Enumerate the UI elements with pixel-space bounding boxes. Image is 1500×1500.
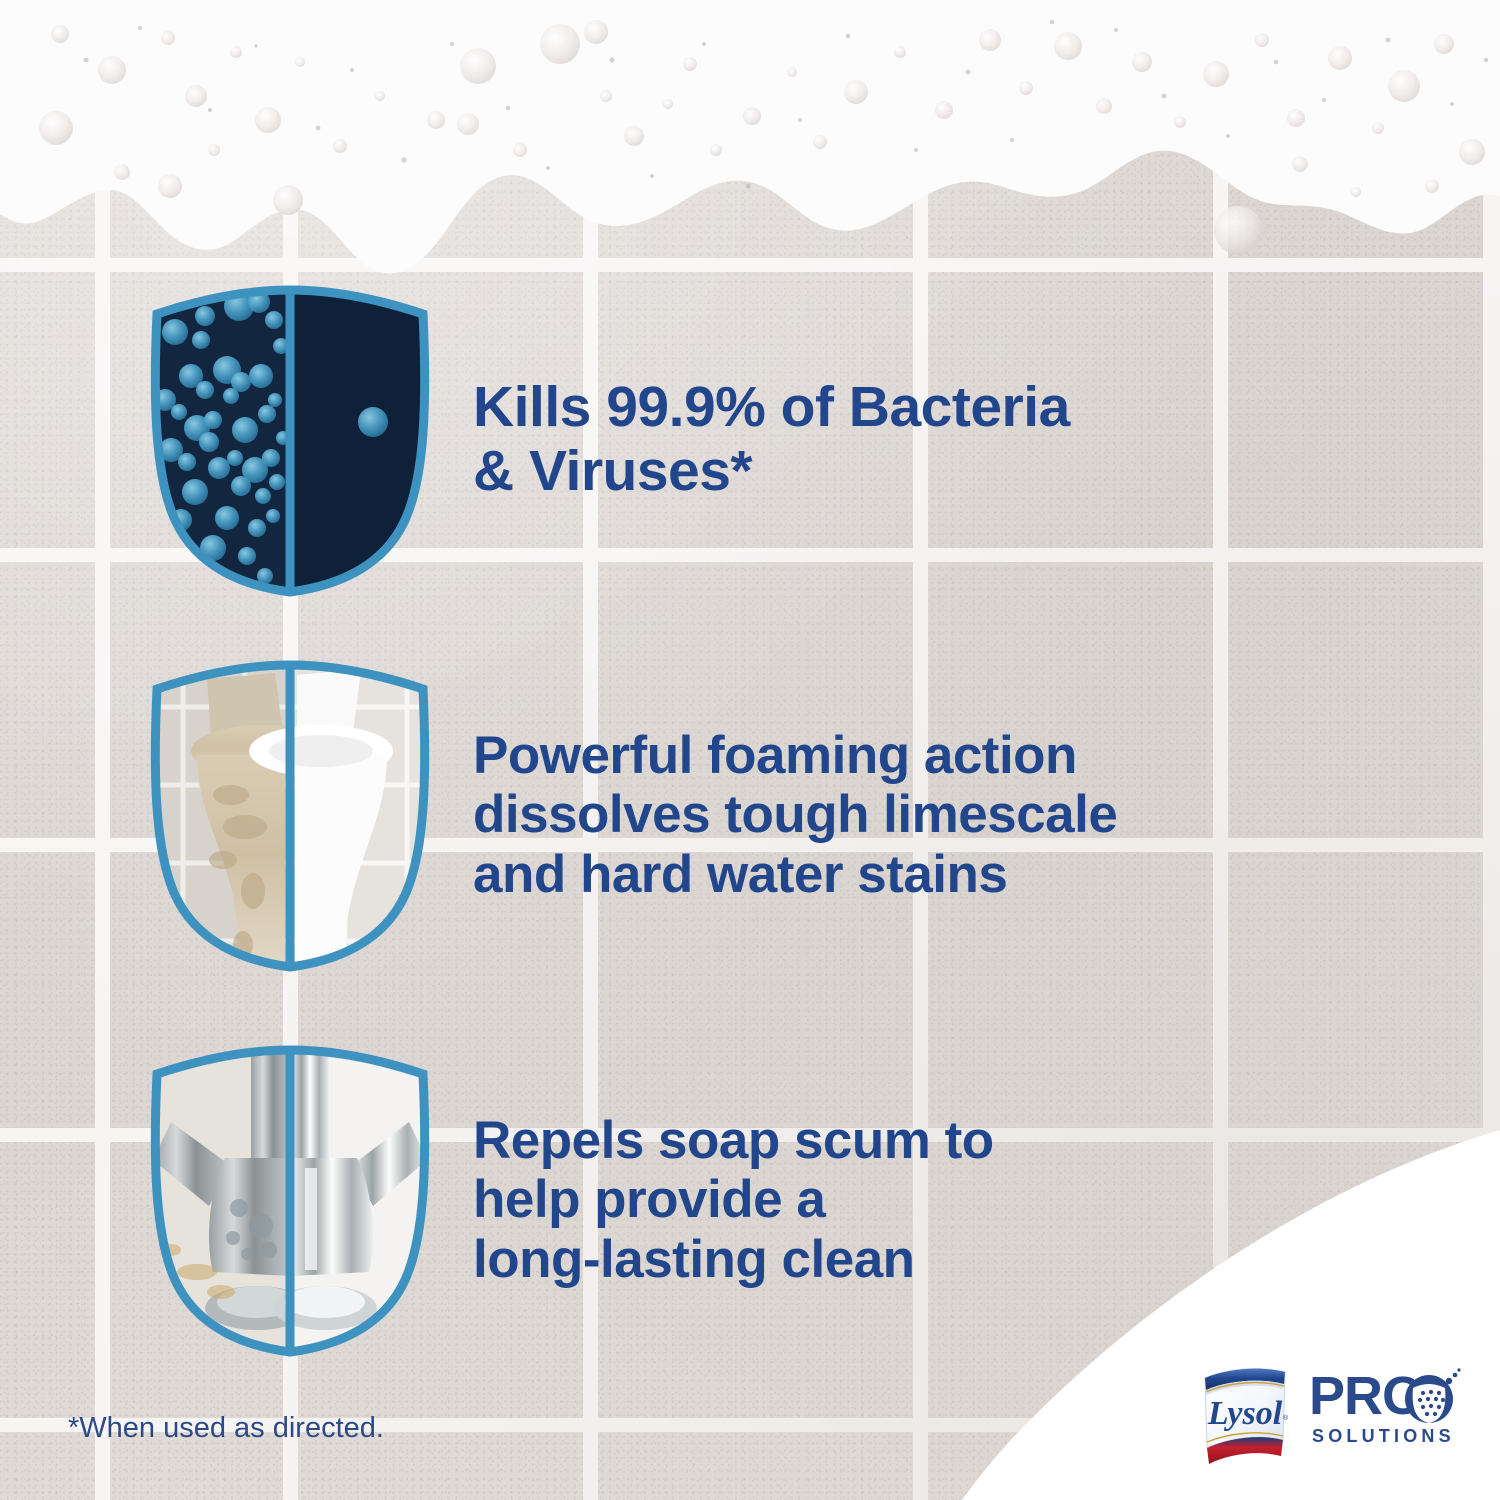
benefit-copy-1: Kills 99.9% of Bacteria & Viruses* (473, 376, 1233, 504)
solutions-wordmark: SOLUTIONS (1312, 1427, 1455, 1445)
lysol-wordmark-text: Lysol (1207, 1395, 1283, 1432)
benefit-row-3: Repels soap scum to help provide a long-… (0, 1040, 1173, 1360)
benefit-2-line-3: and hard water stains (473, 845, 1007, 904)
product-feature-graphic: Kills 99.9% of Bacteria & Viruses* (0, 0, 1500, 1500)
benefit-1-line-2: & Viruses* (473, 439, 752, 503)
benefit-row-1: Kills 99.9% of Bacteria & Viruses* (0, 280, 1233, 600)
shield-germs-icon (135, 280, 445, 600)
brand-logo-lockup: Lysol ® PRO (1195, 1358, 1459, 1466)
benefit-row-2: Powerful foaming action dissolves tough … (0, 655, 1303, 975)
benefit-3-line-2: help provide a (473, 1170, 825, 1229)
svg-text:®: ® (1283, 1414, 1289, 1422)
benefit-1-line-1: Kills 99.9% of Bacteria (473, 375, 1070, 439)
benefit-copy-2: Powerful foaming action dissolves tough … (473, 726, 1303, 904)
benefit-2-line-1: Powerful foaming action (473, 726, 1077, 785)
benefit-3-line-1: Repels soap scum to (473, 1111, 994, 1170)
shield-faucet-icon (135, 1040, 445, 1360)
shield-toilet-icon (135, 655, 445, 975)
pro-shield-o-icon (1404, 1367, 1462, 1432)
benefit-copy-3: Repels soap scum to help provide a long-… (473, 1111, 1173, 1289)
lysol-logo: Lysol ® (1195, 1358, 1295, 1466)
benefit-3-line-3: long-lasting clean (473, 1230, 915, 1289)
pro-solutions-logo: PRO (1309, 1369, 1459, 1455)
disclaimer-footnote: *When used as directed. (68, 1412, 384, 1445)
benefit-2-line-2: dissolves tough limescale (473, 785, 1117, 844)
foam-overlay (0, 0, 1500, 300)
